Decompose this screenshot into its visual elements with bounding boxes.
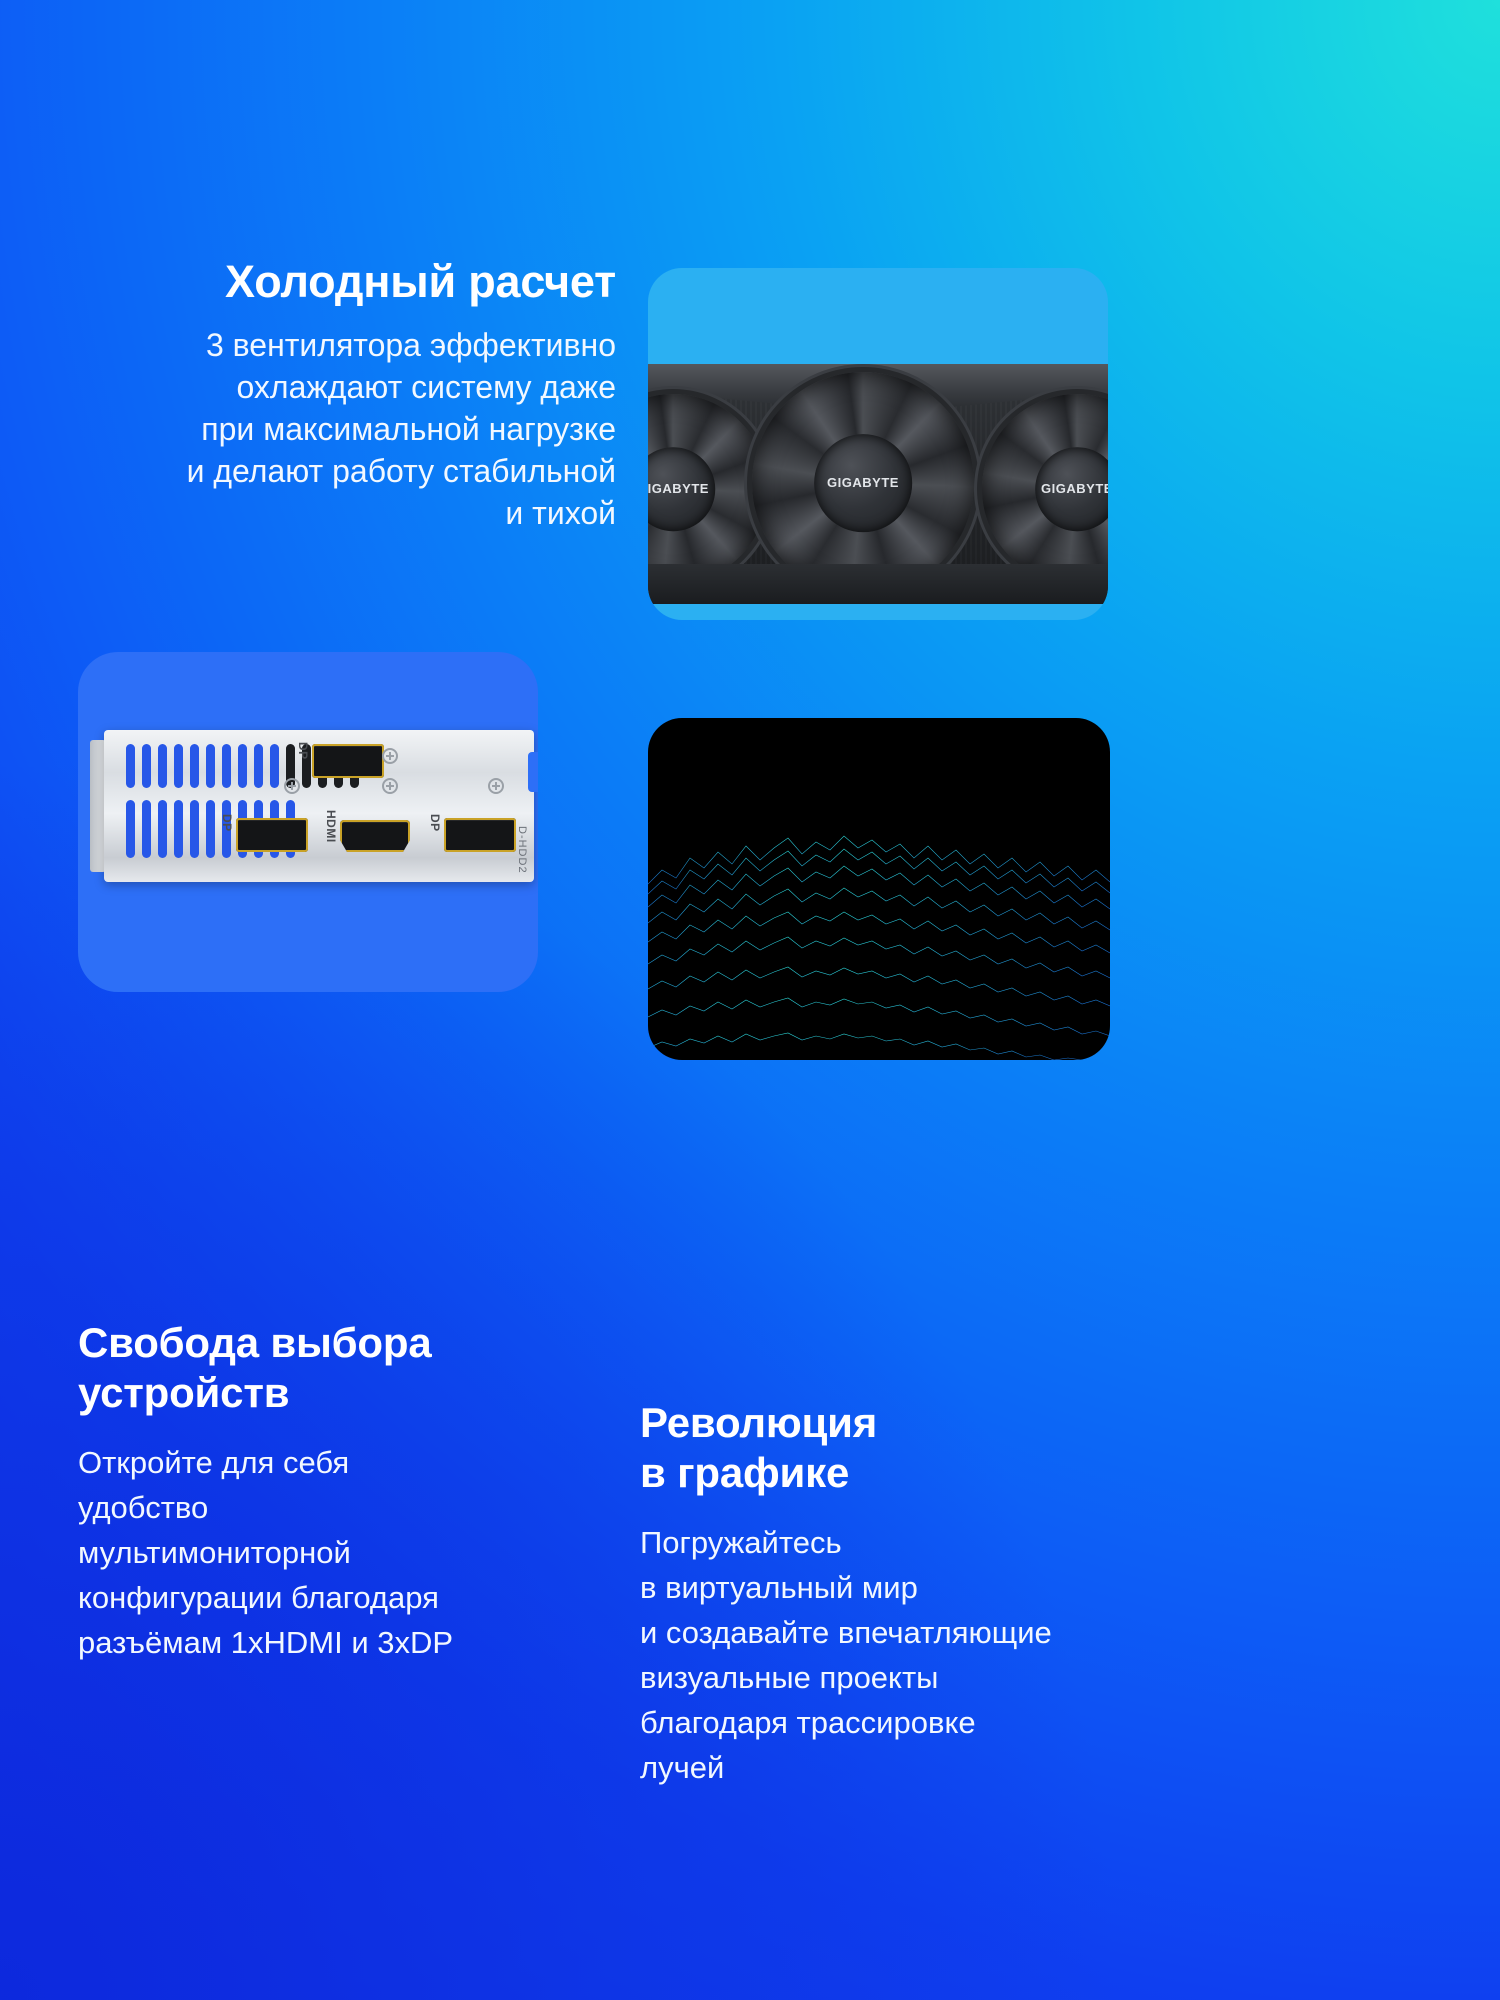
- shroud-bottom: [648, 564, 1108, 604]
- graphics-body-line: визуальные проекты: [640, 1655, 1160, 1700]
- graphics-heading-line: в графике: [640, 1448, 1160, 1498]
- bracket-side-label: D-HDD2: [516, 826, 528, 874]
- fan-center: GIGABYTE: [752, 372, 974, 594]
- port-label-dp-top: DP: [296, 742, 310, 760]
- screw-icon: [382, 778, 398, 794]
- graphics-body-line: и создавайте впечатляющие: [640, 1610, 1160, 1655]
- ports-heading-line: Свобода выбора: [78, 1318, 548, 1368]
- bracket-plate: DP DP HDMI DP D-HDD2: [104, 730, 534, 882]
- cooling-body-line: и тихой: [96, 492, 616, 534]
- cooling-body-line: 3 вентилятора эффективно: [96, 324, 616, 366]
- ports-heading: Свобода выбора устройств: [78, 1318, 548, 1418]
- io-bracket-card: DP DP HDMI DP D-HDD2: [78, 652, 538, 992]
- bracket-notch: [528, 752, 538, 792]
- ports-body-line: Откройте для себя: [78, 1440, 548, 1485]
- ports-body-line: конфигурации благодаря: [78, 1575, 548, 1620]
- graphics-body-line: в виртуальный мир: [640, 1565, 1160, 1610]
- port-label-dp-1: DP: [220, 814, 234, 832]
- fan-left: GIGABYTE: [648, 394, 768, 584]
- ports-body-line: разъёмам 1xHDMI и 3xDP: [78, 1620, 548, 1665]
- cooling-heading: Холодный расчет: [96, 256, 616, 308]
- graphics-body-line: благодаря трассировке: [640, 1700, 1160, 1745]
- graphics-body-line: лучей: [640, 1745, 1160, 1790]
- cooling-body-line: охлаждают систему даже: [96, 366, 616, 408]
- fan-hub-left: GIGABYTE: [648, 447, 715, 531]
- screw-icon: [488, 778, 504, 794]
- fan-hub-right: GIGABYTE: [1035, 447, 1108, 531]
- port-label-dp-2: DP: [428, 814, 442, 832]
- fan-hub-center: GIGABYTE: [814, 434, 912, 532]
- cooling-body-line: и делают работу стабильной: [96, 450, 616, 492]
- ports-text-block: Свобода выбора устройств Откройте для се…: [78, 1318, 548, 1665]
- ports-body-line: удобство: [78, 1485, 548, 1530]
- raytracing-image-card: [648, 718, 1110, 1060]
- graphics-heading: Революция в графике: [640, 1398, 1160, 1498]
- graphics-heading-line: Революция: [640, 1398, 1160, 1448]
- graphics-body-line: Погружайтесь: [640, 1520, 1160, 1565]
- gpu-fans-photo: GIGABYTE GIGABYTE GIGABYTE: [648, 364, 1108, 604]
- fan-right: GIGABYTE: [982, 394, 1108, 584]
- cooling-body-line: при максимальной нагрузке: [96, 408, 616, 450]
- ports-heading-line: устройств: [78, 1368, 548, 1418]
- wireframe-terrain-mesh: [648, 718, 1110, 1060]
- cooling-image-card: GIGABYTE GIGABYTE GIGABYTE: [648, 268, 1108, 620]
- cooling-text-block: Холодный расчет 3 вентилятора эффективно…: [96, 256, 616, 534]
- port-displayport-1: [236, 818, 308, 852]
- port-displayport-2: [444, 818, 516, 852]
- port-hdmi: [340, 820, 410, 852]
- fan-brand-label: GIGABYTE: [1041, 482, 1108, 497]
- port-label-hdmi: HDMI: [324, 810, 338, 843]
- ports-body-line: мультимониторной: [78, 1530, 548, 1575]
- io-bracket: DP DP HDMI DP D-HDD2: [104, 730, 534, 882]
- graphics-body: Погружайтесь в виртуальный мир и создава…: [640, 1520, 1160, 1790]
- fan-brand-label: GIGABYTE: [827, 475, 899, 490]
- fan-brand-label: GIGABYTE: [648, 482, 709, 497]
- screw-icon: [284, 778, 300, 794]
- ports-body: Откройте для себя удобство мультимонитор…: [78, 1440, 548, 1665]
- graphics-text-block: Революция в графике Погружайтесь в вирту…: [640, 1398, 1160, 1790]
- port-displayport-top: [312, 744, 384, 778]
- screw-icon: [382, 748, 398, 764]
- cooling-body: 3 вентилятора эффективно охлаждают систе…: [96, 324, 616, 534]
